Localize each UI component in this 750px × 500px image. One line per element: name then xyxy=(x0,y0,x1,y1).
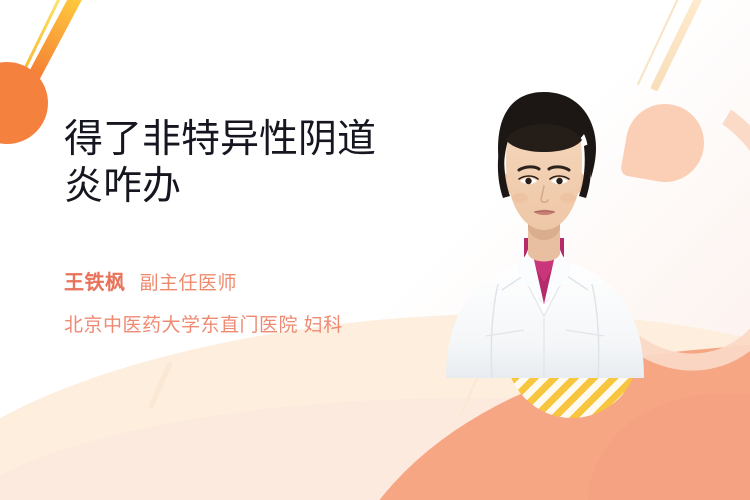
cover-text-block: 得了非特异性阴道 炎咋办 王铁枫副主任医师 北京中医药大学东直门医院 妇科 xyxy=(64,116,434,337)
diagonal-stripe-pale-icon xyxy=(148,361,173,409)
doctor-portrait-illustration xyxy=(440,78,650,378)
orange-circle-shape xyxy=(0,62,48,144)
salmon-wave-secondary-shape xyxy=(588,394,750,500)
page-title-line-2: 炎咋办 xyxy=(64,163,434,210)
cream-wave-secondary-shape xyxy=(0,398,750,500)
doctor-credit-row: 王铁枫副主任医师 xyxy=(64,266,434,295)
page-title-line-1: 得了非特异性阴道 xyxy=(64,116,434,163)
diagonal-stripe-yellow-icon xyxy=(9,0,65,98)
diagonal-stripe-cream-icon xyxy=(650,0,710,92)
doctor-portrait xyxy=(440,78,650,378)
doctor-rank: 副主任医师 xyxy=(140,273,238,294)
diagonal-stripe-cream-thin-icon xyxy=(637,0,685,85)
doctor-video-cover-card: 得了非特异性阴道 炎咋办 王铁枫副主任医师 北京中医药大学东直门医院 妇科 xyxy=(0,0,750,500)
doctor-name: 王铁枫 xyxy=(64,272,126,294)
diagonal-stripe-orange-icon xyxy=(26,0,90,82)
diagonal-stripe-pale-2-icon xyxy=(459,373,480,416)
doctor-hospital: 北京中医药大学东直门医院 妇科 xyxy=(64,310,434,337)
